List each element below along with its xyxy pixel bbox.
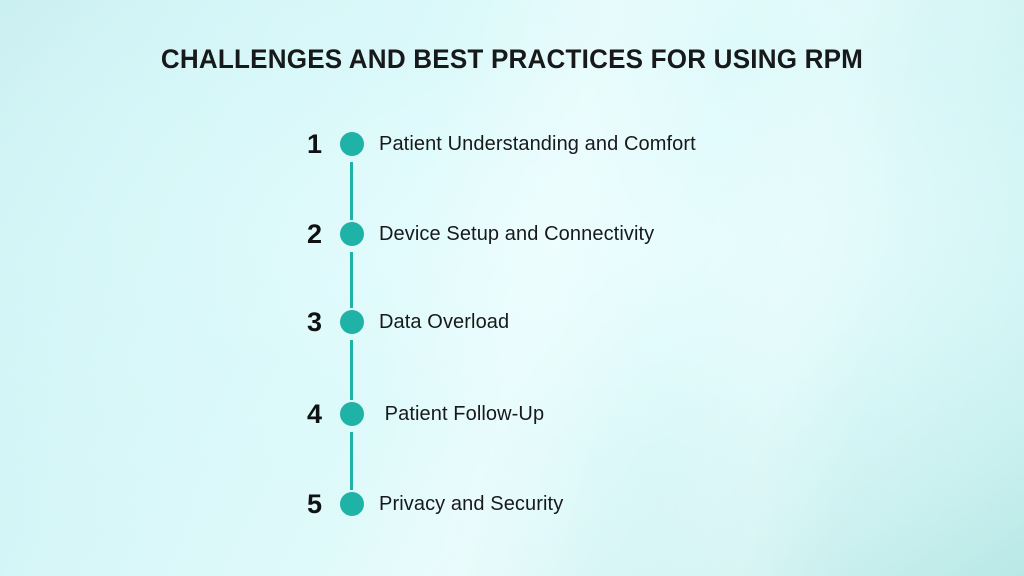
list-item-label: Patient Understanding and Comfort xyxy=(379,128,696,160)
list-item-label: Device Setup and Connectivity xyxy=(379,218,654,250)
list-item-number: 1 xyxy=(282,128,322,160)
bullet-dot-icon xyxy=(340,492,364,516)
timeline-connector xyxy=(350,340,353,400)
timeline-connector xyxy=(350,432,353,490)
timeline-connector xyxy=(350,162,353,220)
list-item-number: 3 xyxy=(282,306,322,338)
list-item-label: Privacy and Security xyxy=(379,488,563,520)
bullet-dot-icon xyxy=(340,222,364,246)
timeline-connector xyxy=(350,252,353,308)
list-item-number: 5 xyxy=(282,488,322,520)
bullet-dot-icon xyxy=(340,310,364,334)
list-item-number: 4 xyxy=(282,398,322,430)
list-item-label: Data Overload xyxy=(379,306,509,338)
infographic-canvas: CHALLENGES AND BEST PRACTICES FOR USING … xyxy=(0,0,1024,576)
bullet-dot-icon xyxy=(340,402,364,426)
list-item-number: 2 xyxy=(282,218,322,250)
list-item-label: Patient Follow-Up xyxy=(379,398,544,430)
bullet-dot-icon xyxy=(340,132,364,156)
timeline-list: 1 Patient Understanding and Comfort 2 De… xyxy=(0,0,1024,576)
